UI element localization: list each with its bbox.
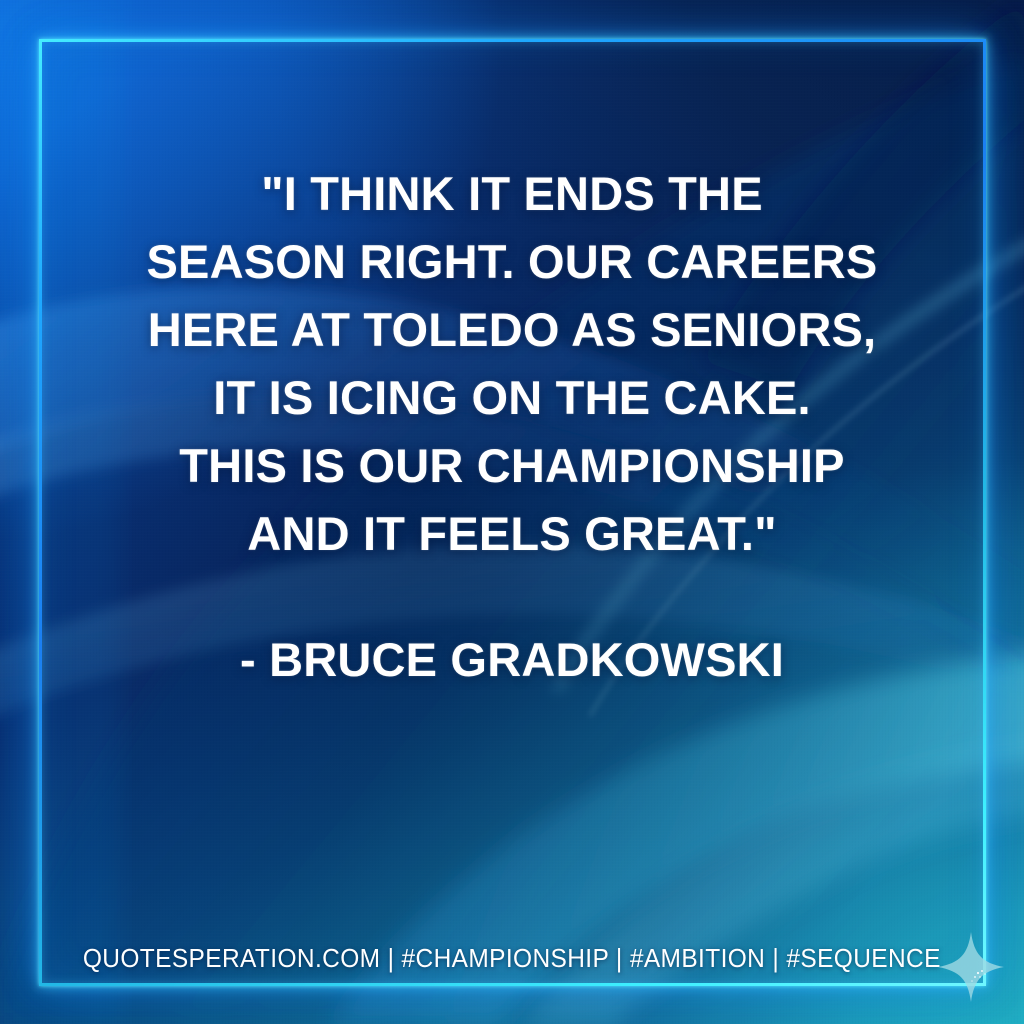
quote-line-4: IT IS ICING ON THE CAKE. bbox=[62, 364, 962, 432]
quote-line-1: "I THINK IT ENDS THE bbox=[62, 160, 962, 228]
quote-line-5: THIS IS OUR CHAMPIONSHIP bbox=[62, 432, 962, 500]
quote-poster: "I THINK IT ENDS THE SEASON RIGHT. OUR C… bbox=[0, 0, 1024, 1024]
quote-line-2: SEASON RIGHT. OUR CAREERS bbox=[62, 228, 962, 296]
footer-credit-text: QUOTESPERATION.COM | #CHAMPIONSHIP | #AM… bbox=[83, 945, 941, 974]
footer-bar: QUOTESPERATION.COM | #CHAMPIONSHIP | #AM… bbox=[0, 932, 1024, 986]
quote-line-6: AND IT FEELS GREAT." bbox=[62, 500, 962, 568]
quote-block: "I THINK IT ENDS THE SEASON RIGHT. OUR C… bbox=[62, 160, 962, 690]
poster-content: "I THINK IT ENDS THE SEASON RIGHT. OUR C… bbox=[0, 0, 1024, 1024]
quote-line-3: HERE AT TOLEDO AS SENIORS, bbox=[62, 296, 962, 364]
quote-attribution: - BRUCE GRADKOWSKI bbox=[62, 630, 962, 690]
